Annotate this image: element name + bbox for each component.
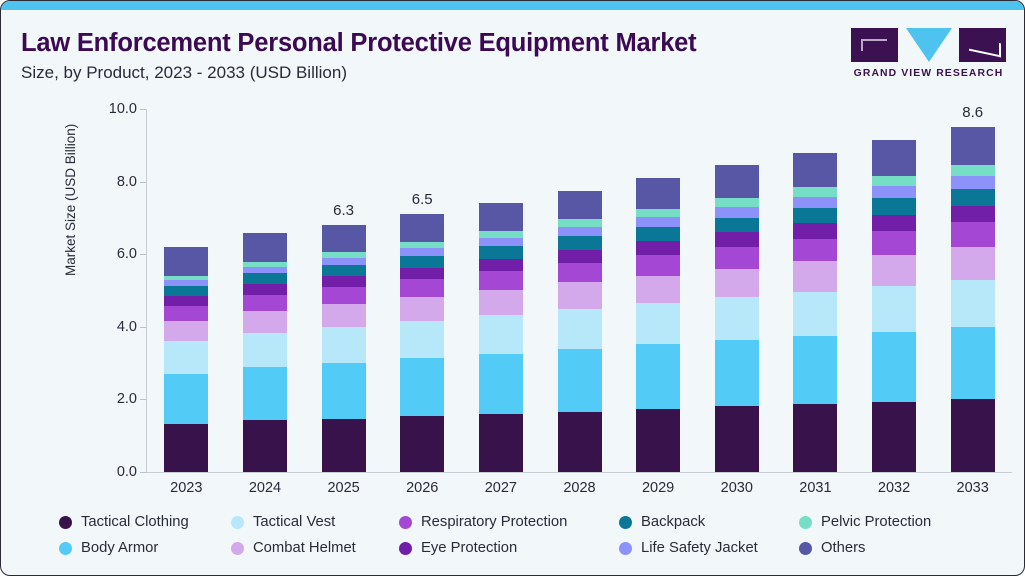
x-tick-label: 2033 <box>957 480 989 496</box>
bar-segment[interactable] <box>322 276 366 287</box>
bar-segment[interactable] <box>872 140 916 176</box>
legend-swatch-icon <box>619 516 632 529</box>
logo-wordmark: GRAND VIEW RESEARCH <box>851 68 1006 79</box>
y-tick-label: 8.0 <box>93 174 137 190</box>
bar-segment[interactable] <box>322 363 366 419</box>
bar-segment[interactable] <box>243 273 287 284</box>
bar-segment[interactable] <box>479 231 523 238</box>
bar-stack[interactable] <box>636 178 680 472</box>
legend-label: Respiratory Protection <box>421 514 567 530</box>
page-title: Law Enforcement Personal Protective Equi… <box>21 29 696 58</box>
legend-item[interactable]: Eye Protection <box>399 540 619 556</box>
bar-segment[interactable] <box>793 153 837 187</box>
bar-segment[interactable] <box>558 412 602 472</box>
legend-label: Life Safety Jacket <box>641 540 758 556</box>
bar-segment[interactable] <box>558 349 602 412</box>
bar-segment[interactable] <box>400 256 444 268</box>
bar-segment[interactable] <box>322 327 366 363</box>
bar-segment[interactable] <box>872 255 916 287</box>
bar-segment[interactable] <box>636 409 680 472</box>
plot-area: Market Size (USD Billion) 0.02.04.06.08.… <box>1 88 1025 508</box>
bar-segment[interactable] <box>951 280 995 327</box>
bar-segment[interactable] <box>715 165 759 198</box>
bar-segment[interactable] <box>558 236 602 249</box>
legend-swatch-icon <box>59 542 72 555</box>
bar-segment[interactable] <box>715 247 759 269</box>
bar-segment[interactable] <box>479 246 523 259</box>
x-tick-label: 2026 <box>406 480 438 496</box>
legend-label: Tactical Clothing <box>81 514 189 530</box>
bar-segment[interactable] <box>636 344 680 409</box>
bar-segment[interactable] <box>164 341 208 373</box>
bar-segment[interactable] <box>636 217 680 227</box>
bar-stack[interactable] <box>400 214 444 472</box>
bar-segment[interactable] <box>793 292 837 336</box>
bar-stack[interactable] <box>558 191 602 472</box>
bar-segment[interactable] <box>400 279 444 297</box>
legend-row: Body ArmorCombat HelmetEye ProtectionLif… <box>59 535 1009 561</box>
bar-group[interactable] <box>558 109 602 472</box>
bar-segment[interactable] <box>243 367 287 421</box>
bar-stack[interactable] <box>479 203 523 472</box>
bar-segment[interactable] <box>322 287 366 304</box>
legend-item[interactable]: Life Safety Jacket <box>619 540 799 556</box>
legend-swatch-icon <box>399 542 412 555</box>
bar-stack[interactable] <box>715 165 759 472</box>
bar-segment[interactable] <box>951 206 995 223</box>
chart-header: Law Enforcement Personal Protective Equi… <box>1 10 1024 88</box>
page-subtitle: Size, by Product, 2023 - 2033 (USD Billi… <box>21 63 347 83</box>
bar-segment[interactable] <box>636 276 680 304</box>
bar-segment[interactable] <box>243 311 287 333</box>
legend-item[interactable]: Others <box>799 540 979 556</box>
bar-group[interactable] <box>872 109 916 472</box>
bar-segment[interactable] <box>636 303 680 344</box>
bar-group[interactable] <box>164 109 208 472</box>
bar-segment[interactable] <box>715 340 759 406</box>
bar-segment[interactable] <box>479 414 523 472</box>
bar-segment[interactable] <box>479 290 523 315</box>
bar-segment[interactable] <box>243 295 287 311</box>
legend-swatch-icon <box>619 542 632 555</box>
bar-segment[interactable] <box>715 218 759 233</box>
bar-value-label: 8.6 <box>962 104 983 121</box>
bar-group[interactable]: 8.6 <box>951 109 995 472</box>
bar-segment[interactable] <box>951 176 995 189</box>
bar-stack[interactable] <box>164 247 208 472</box>
bar-segment[interactable] <box>164 424 208 472</box>
bar-segment[interactable] <box>951 247 995 280</box>
bar-segment[interactable] <box>636 209 680 217</box>
x-tick-label: 2031 <box>799 480 831 496</box>
bar-segment[interactable] <box>793 187 837 197</box>
top-accent-bar <box>1 1 1024 10</box>
bar-segment[interactable] <box>715 198 759 207</box>
legend-label: Combat Helmet <box>253 540 356 556</box>
logo-triangle-icon <box>906 28 952 62</box>
x-tick-label: 2028 <box>563 480 595 496</box>
bar-segment[interactable] <box>400 248 444 256</box>
y-tick-label: 10.0 <box>93 101 137 117</box>
bar-segment[interactable] <box>558 191 602 220</box>
bar-segment[interactable] <box>793 261 837 291</box>
bar-segment[interactable] <box>479 203 523 231</box>
bar-segment[interactable] <box>558 263 602 283</box>
legend-label: Tactical Vest <box>253 514 335 530</box>
legend-swatch-icon <box>59 516 72 529</box>
chart-legend: Tactical ClothingTactical VestRespirator… <box>59 509 1009 565</box>
bar-segment[interactable] <box>872 286 916 331</box>
bar-segment[interactable] <box>322 419 366 472</box>
bar-group[interactable]: 6.3 <box>322 109 366 472</box>
y-tick-label: 4.0 <box>93 319 137 335</box>
legend-item[interactable]: Tactical Vest <box>231 514 399 530</box>
legend-label: Eye Protection <box>421 540 517 556</box>
bar-segment[interactable] <box>400 321 444 358</box>
logo-marks <box>851 28 1006 62</box>
bar-segment[interactable] <box>322 265 366 276</box>
bar-segment[interactable] <box>636 178 680 209</box>
legend-item[interactable]: Respiratory Protection <box>399 514 619 530</box>
bar-segment[interactable] <box>479 354 523 415</box>
legend-swatch-icon <box>399 516 412 529</box>
bar-segment[interactable] <box>164 306 208 321</box>
y-tick-mark <box>140 472 146 473</box>
bar-group[interactable] <box>793 109 837 472</box>
bar-segment[interactable] <box>164 321 208 341</box>
bar-segment[interactable] <box>951 127 995 164</box>
legend-label: Pelvic Protection <box>821 514 931 530</box>
bar-segment[interactable] <box>951 399 995 472</box>
bar-segment[interactable] <box>636 241 680 255</box>
bar-segment[interactable] <box>951 327 995 399</box>
bar-segment[interactable] <box>951 189 995 206</box>
bar-segment[interactable] <box>872 198 916 214</box>
grand-view-research-logo: GRAND VIEW RESEARCH <box>851 28 1006 84</box>
bar-segment[interactable] <box>872 332 916 402</box>
bar-stack[interactable] <box>322 225 366 472</box>
legend-row: Tactical ClothingTactical VestRespirator… <box>59 509 1009 535</box>
bar-segment[interactable] <box>243 284 287 295</box>
x-tick-label: 2023 <box>170 480 202 496</box>
bar-segment[interactable] <box>793 239 837 262</box>
bar-segment[interactable] <box>715 232 759 247</box>
bar-group[interactable] <box>243 109 287 472</box>
x-tick-label: 2029 <box>642 480 674 496</box>
legend-item[interactable]: Body Armor <box>59 540 231 556</box>
legend-label: Others <box>821 540 865 556</box>
bar-segment[interactable] <box>400 268 444 280</box>
bar-group[interactable] <box>715 109 759 472</box>
bar-segment[interactable] <box>322 225 366 252</box>
x-tick-label: 2024 <box>249 480 281 496</box>
y-tick-label: 6.0 <box>93 246 137 262</box>
bar-segment[interactable] <box>793 197 837 208</box>
y-tick-mark <box>140 327 146 328</box>
bar-segment[interactable] <box>872 402 916 472</box>
bar-segment[interactable] <box>558 219 602 227</box>
bar-segment[interactable] <box>872 176 916 187</box>
legend-swatch-icon <box>799 542 812 555</box>
bar-segment[interactable] <box>558 227 602 236</box>
x-axis-line <box>146 472 1012 473</box>
bar-segment[interactable] <box>164 374 208 424</box>
x-tick-label: 2032 <box>878 480 910 496</box>
y-tick-mark <box>140 399 146 400</box>
bar-stack[interactable] <box>793 153 837 472</box>
bar-segment[interactable] <box>715 207 759 218</box>
y-tick-mark <box>140 182 146 183</box>
bar-segment[interactable] <box>872 215 916 231</box>
legend-swatch-icon <box>231 542 244 555</box>
x-tick-label: 2025 <box>327 480 359 496</box>
y-axis-label: Market Size (USD Billion) <box>63 124 78 276</box>
bar-segment[interactable] <box>479 259 523 271</box>
logo-left-box-icon <box>851 28 898 62</box>
bar-segment[interactable] <box>164 247 208 276</box>
x-tick-label: 2030 <box>721 480 753 496</box>
legend-item[interactable]: Backpack <box>619 514 799 530</box>
bar-segment[interactable] <box>951 165 995 176</box>
y-tick-mark <box>140 109 146 110</box>
bar-segment[interactable] <box>479 271 523 290</box>
y-tick-label: 2.0 <box>93 391 137 407</box>
chart-card: Law Enforcement Personal Protective Equi… <box>0 0 1025 576</box>
bar-segment[interactable] <box>715 406 759 472</box>
bar-segment[interactable] <box>243 420 287 472</box>
bar-segment[interactable] <box>558 309 602 349</box>
legend-label: Body Armor <box>81 540 158 556</box>
bar-segment[interactable] <box>479 315 523 354</box>
bar-segment[interactable] <box>715 297 759 339</box>
bar-segment[interactable] <box>872 186 916 198</box>
bar-segment[interactable] <box>793 336 837 404</box>
bar-segment[interactable] <box>793 404 837 472</box>
bar-segment[interactable] <box>793 223 837 238</box>
bar-segment[interactable] <box>558 282 602 308</box>
bar-segment[interactable] <box>872 231 916 255</box>
y-tick-mark <box>140 254 146 255</box>
bar-series-container: 6.36.58.6 <box>147 109 1012 472</box>
bar-segment[interactable] <box>322 258 366 265</box>
bar-group[interactable]: 6.5 <box>400 109 444 472</box>
bar-segment[interactable] <box>715 269 759 298</box>
legend-item[interactable]: Pelvic Protection <box>799 514 979 530</box>
bar-segment[interactable] <box>636 255 680 276</box>
logo-right-box-icon <box>959 28 1006 62</box>
legend-swatch-icon <box>231 516 244 529</box>
bar-segment[interactable] <box>322 304 366 327</box>
y-tick-label: 0.0 <box>93 464 137 480</box>
bar-stack[interactable] <box>951 127 995 472</box>
bar-stack[interactable] <box>872 140 916 472</box>
bar-segment[interactable] <box>400 416 444 472</box>
bar-value-label: 6.3 <box>333 202 354 219</box>
legend-item[interactable]: Combat Helmet <box>231 540 399 556</box>
bar-segment[interactable] <box>400 214 444 242</box>
bar-segment[interactable] <box>558 250 602 263</box>
legend-swatch-icon <box>799 516 812 529</box>
bar-group[interactable] <box>479 109 523 472</box>
bar-segment[interactable] <box>636 227 680 241</box>
bar-segment[interactable] <box>479 238 523 246</box>
bar-segment[interactable] <box>164 296 208 306</box>
bar-segment[interactable] <box>243 233 287 262</box>
bar-segment[interactable] <box>793 208 837 224</box>
x-tick-label: 2027 <box>485 480 517 496</box>
bar-segment[interactable] <box>951 222 995 247</box>
bar-segment[interactable] <box>243 333 287 367</box>
bar-segment[interactable] <box>400 297 444 321</box>
bar-stack[interactable] <box>243 233 287 472</box>
legend-label: Backpack <box>641 514 705 530</box>
bar-segment[interactable] <box>164 286 208 296</box>
bar-value-label: 6.5 <box>412 191 433 208</box>
bar-segment[interactable] <box>400 358 444 416</box>
bar-group[interactable] <box>636 109 680 472</box>
legend-item[interactable]: Tactical Clothing <box>59 514 231 530</box>
